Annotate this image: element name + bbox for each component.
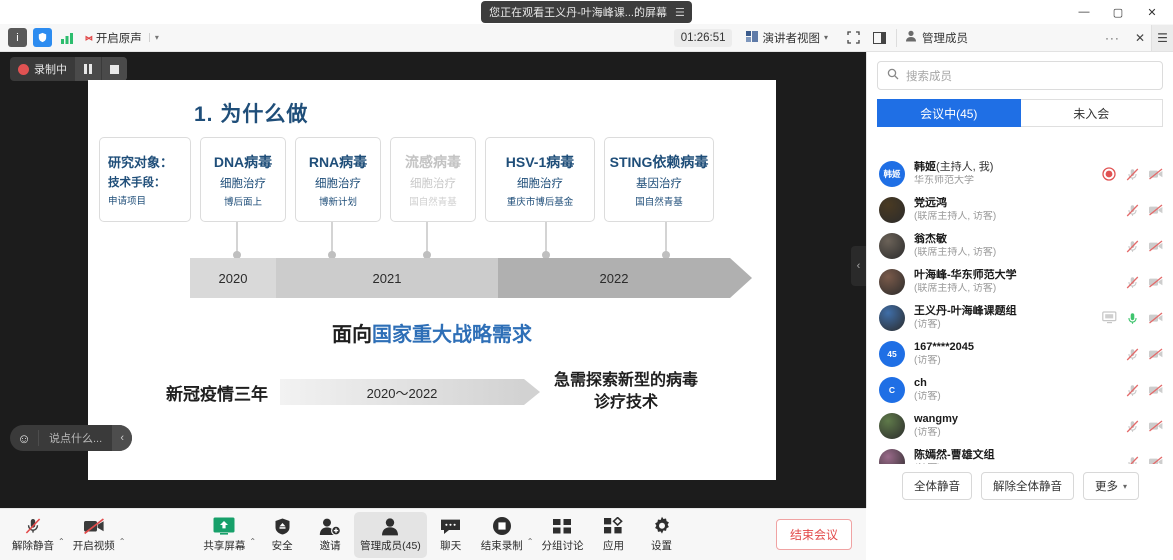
emoji-icon[interactable]: ☺	[10, 431, 38, 446]
card-line-3: 申请项目	[108, 193, 146, 207]
toolbar-left-group: i ⑅ 开启原声 ▾	[0, 28, 163, 48]
card-line-2: 细胞治疗	[315, 175, 361, 191]
mic-status-icon[interactable]	[1125, 311, 1139, 325]
card-line-2: 细胞治疗	[410, 175, 456, 191]
more-actions-button[interactable]: 更多 ▾	[1083, 472, 1139, 500]
screen-share-status-icon	[1102, 311, 1116, 325]
original-sound-icon: ⑅	[85, 30, 93, 45]
mic-status-icon[interactable]	[1125, 275, 1139, 289]
shared-screen-stage: 录制中 1. 为什么做 研究对象： 技术手段： 申请项目 DNA病毒 细胞治疗	[0, 52, 866, 508]
mic-status-icon[interactable]	[1125, 383, 1139, 397]
search-placeholder: 搜索成员	[906, 68, 952, 84]
close-button[interactable]: ✕	[1135, 0, 1169, 24]
chevron-down-icon[interactable]: ▾	[149, 33, 159, 42]
control-label: 分组讨论	[542, 538, 584, 553]
control-label: 共享屏幕	[203, 538, 245, 553]
participant-row[interactable]: 45 167****2045 (访客)	[867, 336, 1173, 372]
participant-name: ch	[914, 377, 1116, 390]
participant-row[interactable]: 王义丹-叶海峰课题组 (访客)	[867, 300, 1173, 336]
recording-indicator: 录制中	[10, 57, 127, 81]
participant-name: 翁杰敏	[914, 233, 1116, 246]
participant-row[interactable]: 韩姬 韩姬(主持人, 我) 华东师范大学	[867, 156, 1173, 192]
avatar: 韩姬	[879, 161, 905, 187]
connector-line	[665, 222, 667, 256]
avatar: C	[879, 377, 905, 403]
camera-muted-icon	[83, 516, 105, 536]
conclusion-row: 新冠疫情三年 2020～2022 急需探索新型的病毒 诊疗技术	[88, 362, 776, 422]
quick-chat-input[interactable]: 说点什么...	[38, 430, 112, 446]
invite-user-icon	[319, 516, 341, 536]
mic-status-icon[interactable]	[1125, 419, 1139, 433]
participant-status-icons	[1102, 311, 1162, 325]
view-mode-label: 演讲者视图	[762, 30, 820, 46]
participant-info: 翁杰敏 (联席主持人, 访客)	[914, 233, 1116, 259]
participants-icon	[905, 30, 917, 45]
original-sound-button[interactable]: ⑅ 开启原声 ▾	[83, 28, 163, 48]
card-line-1: 流感病毒	[405, 152, 461, 172]
sharing-status-text: 您正在观看王义丹-叶海峰课...的屏幕	[489, 4, 667, 20]
chevron-up-icon[interactable]: ⌃	[249, 537, 256, 546]
mic-status-icon[interactable]	[1125, 455, 1139, 464]
timeline-segment: 2020	[190, 258, 276, 298]
presentation-slide: 1. 为什么做 研究对象： 技术手段： 申请项目 DNA病毒 细胞治疗 博后面上…	[88, 80, 776, 480]
mic-muted-icon	[23, 516, 43, 536]
meeting-timer: 01:26:51	[674, 29, 733, 47]
mic-status-icon[interactable]	[1125, 347, 1139, 361]
minimize-button[interactable]: —	[1067, 0, 1101, 24]
control-label: 设置	[651, 538, 672, 553]
search-icon	[887, 68, 899, 83]
participant-sub: (联席主持人, 访客)	[914, 211, 1116, 223]
security-shield-icon	[273, 516, 292, 536]
participant-status-icons	[1125, 419, 1162, 433]
participant-row[interactable]: 党远鸿 (联席主持人, 访客)	[867, 192, 1173, 228]
strategy-headline: 面向国家重大战略需求	[88, 318, 776, 347]
card-line-1: STING依赖病毒	[610, 152, 709, 172]
conclusion-left-text: 新冠疫情三年	[166, 380, 268, 405]
card-line-2: 基因治疗	[636, 175, 682, 191]
settings-gear-icon	[652, 516, 672, 536]
control-chat[interactable]: 聊天	[427, 512, 475, 558]
chevron-down-icon[interactable]: ▾	[824, 33, 828, 42]
strategy-prefix: 面向	[332, 324, 372, 346]
control-stop-recording[interactable]: 结束录制	[475, 512, 529, 558]
avatar	[879, 269, 905, 295]
search-wrapper: 搜索成员	[867, 52, 1173, 96]
timeline-connectors	[88, 222, 776, 260]
participant-sub: 华东师范大学	[914, 175, 1093, 187]
fullscreen-icon[interactable]	[840, 27, 866, 49]
participant-row[interactable]: 翁杰敏 (联席主持人, 访客)	[867, 228, 1173, 264]
participant-name: 167****2045	[914, 341, 1116, 354]
slide-card: RNA病毒 细胞治疗 博新计划	[295, 137, 381, 222]
card-line-3: 国自然青基	[409, 194, 457, 208]
control-label: 解除静音	[12, 538, 54, 553]
apps-icon	[603, 516, 624, 536]
control-label: 聊天	[440, 538, 461, 553]
avatar	[879, 197, 905, 223]
tab-not-joined[interactable]: 未入会	[1021, 99, 1164, 127]
participant-row[interactable]: 陈嫣然-曹雄文组 (访客)	[867, 444, 1173, 464]
camera-status-icon[interactable]	[1148, 455, 1162, 464]
recording-label: 录制中	[34, 61, 67, 77]
share-screen-icon	[213, 516, 235, 536]
manage-participants-tab[interactable]: 管理成员 ··· ✕	[901, 30, 1151, 46]
network-stats-icon[interactable]	[58, 28, 77, 47]
mute-all-button[interactable]: 全体静音	[902, 472, 972, 500]
maximize-button[interactable]: ▢	[1101, 0, 1135, 24]
participant-row[interactable]: 叶海峰-华东师范大学 (联席主持人, 访客)	[867, 264, 1173, 300]
speaker-view-icon	[746, 31, 758, 45]
panel-action-bar: 全体静音 解除全体静音 更多 ▾	[867, 464, 1173, 508]
year-timeline: 2020 2021 2022	[190, 258, 770, 298]
chat-icon	[440, 516, 461, 536]
connector-line	[545, 222, 547, 256]
card-line-3: 重庆市博后基金	[507, 194, 574, 208]
chevron-down-icon: ▾	[1123, 482, 1127, 491]
card-line-3: 博新计划	[319, 194, 357, 208]
avatar: 45	[879, 341, 905, 367]
card-line-1: RNA病毒	[309, 152, 367, 172]
participant-role: (主持人, 我)	[936, 161, 993, 173]
participant-sub: (访客)	[914, 427, 1116, 439]
toolbar-right-group: 01:26:51 演讲者视图 ▾ 管理成员	[674, 25, 1173, 51]
card-line-1: 研究对象：	[108, 152, 173, 171]
toolbar-divider	[896, 29, 897, 47]
participant-sub: (访客)	[914, 319, 1093, 331]
control-share-screen[interactable]: 共享屏幕	[197, 512, 251, 558]
participant-status-icons	[1125, 275, 1162, 289]
connector-line	[331, 222, 333, 256]
chevron-up-icon[interactable]: ⌃	[527, 537, 534, 546]
card-line-2: 技术手段：	[108, 174, 166, 190]
meeting-control-bar: 解除静音 ⌃ 开启视频 ⌃ 共享屏幕 ⌃ 安全 邀请 管理成员(45) 聊天 结…	[0, 508, 866, 560]
control-label: 应用	[603, 538, 624, 553]
participant-name: wangmy	[914, 413, 1116, 426]
card-line-2: 细胞治疗	[220, 175, 266, 191]
participant-status-icons	[1125, 383, 1162, 397]
camera-status-icon[interactable]	[1148, 167, 1162, 181]
avatar	[879, 305, 905, 331]
participant-status-icons	[1125, 239, 1162, 253]
participant-name: 叶海峰-华东师范大学	[914, 269, 1116, 282]
participants-icon	[379, 516, 401, 536]
participant-status-icons	[1125, 347, 1162, 361]
control-participants[interactable]: 管理成员(45)	[354, 512, 427, 558]
camera-status-icon[interactable]	[1148, 275, 1162, 289]
breakout-rooms-icon	[552, 516, 573, 536]
participant-info: 叶海峰-华东师范大学 (联席主持人, 访客)	[914, 269, 1116, 295]
participant-name: 韩姬(主持人, 我)	[914, 161, 1093, 174]
camera-status-icon[interactable]	[1148, 203, 1162, 217]
participant-status-icons	[1125, 455, 1162, 464]
conclusion-right-text: 急需探索新型的病毒 诊疗技术	[554, 370, 698, 413]
participant-row[interactable]: C ch (访客)	[867, 372, 1173, 408]
recording-label-group: 录制中	[10, 61, 75, 77]
slide-card: 研究对象： 技术手段： 申请项目	[99, 137, 191, 222]
recording-status-icon	[1102, 167, 1116, 181]
info-icon[interactable]: i	[8, 28, 27, 47]
timeline-arrow-head	[730, 258, 752, 298]
participant-name: 王义丹-叶海峰课题组	[914, 305, 1093, 318]
card-line-3: 博后面上	[224, 194, 262, 208]
participant-info: 党远鸿 (联席主持人, 访客)	[914, 197, 1116, 223]
connector-line	[236, 222, 238, 256]
manage-participants-label: 管理成员	[922, 30, 968, 46]
quick-chat-bar[interactable]: ☺ 说点什么... ‹	[10, 425, 132, 451]
mic-status-icon[interactable]	[1125, 167, 1139, 181]
camera-status-icon[interactable]	[1148, 347, 1162, 361]
participant-info: 陈嫣然-曹雄文组 (访客)	[914, 449, 1116, 464]
strategy-highlight: 国家重大战略需求	[372, 324, 532, 346]
mic-status-icon[interactable]	[1125, 203, 1139, 217]
sharing-status-pill: 您正在观看王义丹-叶海峰课...的屏幕 ☰	[481, 1, 692, 23]
card-line-1: DNA病毒	[214, 152, 272, 172]
timeline-segment: 2022	[498, 258, 730, 298]
end-meeting-button[interactable]: 结束会议	[776, 519, 852, 550]
collapse-panel-chevron-icon[interactable]: ‹	[851, 246, 866, 286]
recording-dot-icon	[18, 64, 29, 75]
connector-line	[426, 222, 428, 256]
timeline-segment: 2021	[276, 258, 498, 298]
conclusion-right-line-1: 急需探索新型的病毒	[554, 370, 698, 392]
title-bar: 您正在观看王义丹-叶海峰课...的屏幕 ☰ — ▢ ✕	[0, 0, 1173, 24]
control-label: 开启视频	[73, 538, 115, 553]
avatar	[879, 233, 905, 259]
sharing-menu-icon[interactable]: ☰	[675, 6, 684, 19]
participant-info: ch (访客)	[914, 377, 1116, 403]
stop-recording-icon	[492, 516, 512, 536]
split-view-icon[interactable]	[866, 27, 892, 49]
slide-card: DNA病毒 细胞治疗 博后面上	[200, 137, 286, 222]
card-line-1: HSV-1病毒	[506, 152, 574, 172]
camera-status-icon[interactable]	[1148, 311, 1162, 325]
participant-name: 陈嫣然-曹雄文组	[914, 449, 1116, 462]
participant-sub: (访客)	[914, 391, 1116, 403]
hamburger-menu-icon[interactable]: ☰	[1151, 25, 1173, 51]
conclusion-arrow: 2020～2022	[280, 379, 524, 405]
participant-list[interactable]: 韩姬 韩姬(主持人, 我) 华东师范大学 党远鸿 (联席主持人, 访客) 翁杰敏…	[867, 156, 1173, 464]
chevron-up-icon[interactable]: ⌃	[58, 537, 65, 546]
participant-info: 167****2045 (访客)	[914, 341, 1116, 367]
control-mic-muted[interactable]: 解除静音	[6, 512, 60, 558]
chevron-up-icon[interactable]: ⌃	[119, 537, 126, 546]
control-camera-muted[interactable]: 开启视频	[67, 512, 121, 558]
control-label: 结束录制	[481, 538, 523, 553]
participant-status-icons	[1102, 167, 1162, 181]
slide-card: 流感病毒 细胞治疗 国自然青基	[390, 137, 476, 222]
participant-row[interactable]: wangmy (访客)	[867, 408, 1173, 444]
card-line-2: 细胞治疗	[517, 175, 563, 191]
avatar	[879, 449, 905, 464]
participant-name: 党远鸿	[914, 197, 1116, 210]
control-breakout-rooms[interactable]: 分组讨论	[536, 512, 590, 558]
mic-status-icon[interactable]	[1125, 239, 1139, 253]
meeting-window: 您正在观看王义丹-叶海峰课...的屏幕 ☰ — ▢ ✕ i ⑅ 开启原声 ▾	[0, 0, 1173, 560]
window-controls: — ▢ ✕	[1067, 0, 1169, 24]
control-label: 管理成员(45)	[360, 538, 421, 553]
participant-status-icons	[1125, 203, 1162, 217]
stop-recording-button[interactable]	[101, 57, 127, 81]
top-toolbar: i ⑅ 开启原声 ▾ 01:26:51 演讲者视图 ▾	[0, 24, 1173, 52]
participant-sub: (访客)	[914, 355, 1116, 367]
participant-tabs: 会议中(45) 未入会	[877, 99, 1163, 127]
conclusion-right-line-2: 诊疗技术	[554, 392, 698, 414]
participant-info: wangmy (访客)	[914, 413, 1116, 439]
slide-card-row: 研究对象： 技术手段： 申请项目 DNA病毒 细胞治疗 博后面上 RNA病毒 细…	[99, 137, 714, 222]
slide-card: HSV-1病毒 细胞治疗 重庆市博后基金	[485, 137, 595, 222]
card-line-3: 国自然青基	[635, 194, 683, 208]
control-invite-user[interactable]: 邀请	[306, 512, 354, 558]
participant-sub: (联席主持人, 访客)	[914, 283, 1116, 295]
participant-sub: (联席主持人, 访客)	[914, 247, 1116, 259]
participant-info: 王义丹-叶海峰课题组 (访客)	[914, 305, 1093, 331]
camera-status-icon[interactable]	[1148, 383, 1162, 397]
participants-panel: 搜索成员 会议中(45) 未入会 韩姬 韩姬(主持人, 我) 华东师范大学 党远…	[866, 52, 1173, 508]
shield-icon[interactable]	[33, 28, 52, 47]
panel-close-icon[interactable]: ✕	[1129, 31, 1151, 45]
tab-in-meeting[interactable]: 会议中(45)	[877, 99, 1021, 127]
panel-more-icon[interactable]: ···	[1105, 31, 1124, 45]
view-mode-button[interactable]: 演讲者视图 ▾	[740, 28, 834, 48]
pause-recording-button[interactable]	[75, 57, 101, 81]
camera-status-icon[interactable]	[1148, 419, 1162, 433]
control-label: 安全	[272, 538, 293, 553]
search-input[interactable]: 搜索成员	[877, 61, 1163, 90]
slide-card: STING依赖病毒 基因治疗 国自然青基	[604, 137, 714, 222]
control-label: 邀请	[320, 538, 341, 553]
original-sound-label: 开启原声	[96, 30, 142, 46]
avatar	[879, 413, 905, 439]
control-settings-gear[interactable]: 设置	[638, 512, 686, 558]
control-apps[interactable]: 应用	[590, 512, 638, 558]
camera-status-icon[interactable]	[1148, 239, 1162, 253]
more-actions-label: 更多	[1095, 478, 1118, 494]
participant-info: 韩姬(主持人, 我) 华东师范大学	[914, 161, 1093, 187]
control-security-shield[interactable]: 安全	[258, 512, 306, 558]
slide-title: 1. 为什么做	[194, 98, 308, 128]
unmute-all-button[interactable]: 解除全体静音	[981, 472, 1074, 500]
